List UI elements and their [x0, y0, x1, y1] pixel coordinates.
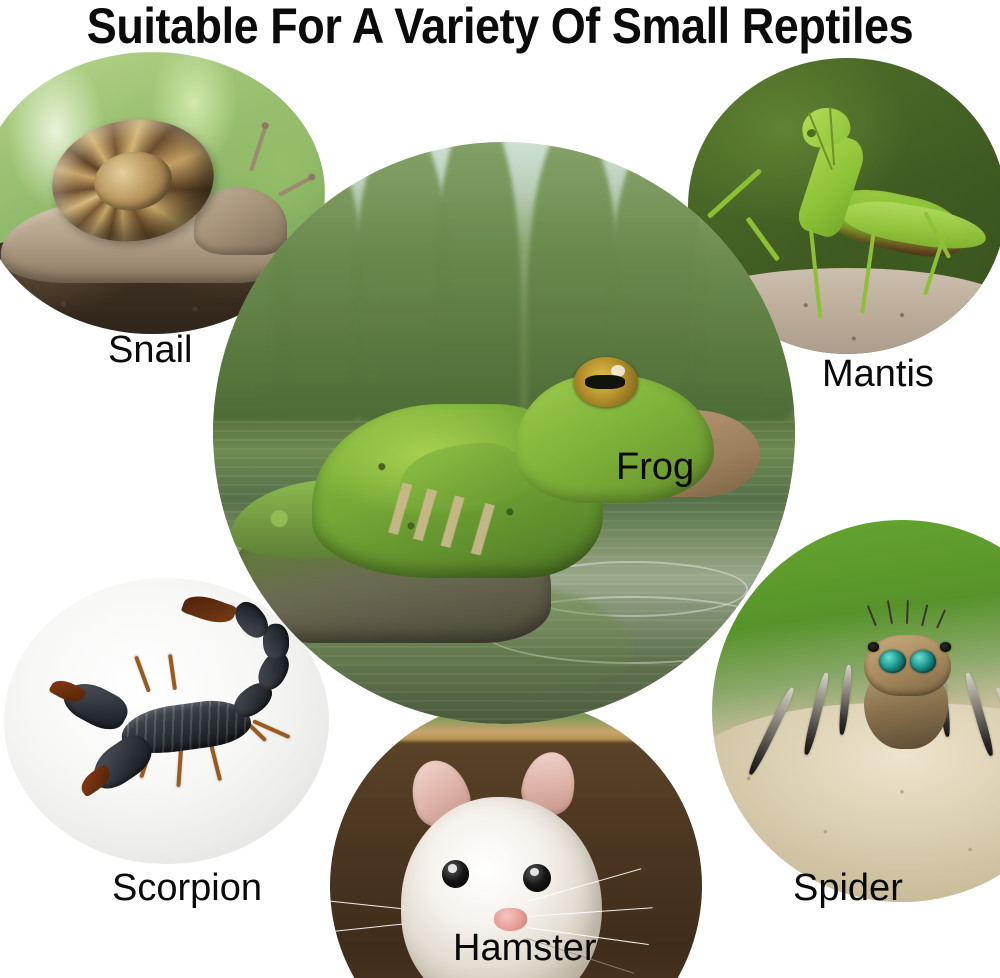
- label-frog: Frog: [616, 447, 694, 487]
- infographic-page: Suitable For A Variety Of Small Reptiles: [0, 0, 1000, 978]
- spider-eye-main-right: [910, 650, 937, 673]
- animal-circle-frog: [213, 142, 795, 724]
- frog-tree-2: [271, 142, 364, 421]
- frog-tree-4: [434, 142, 521, 421]
- label-scorpion: Scorpion: [112, 868, 262, 908]
- spider-eye-main-left: [879, 650, 906, 673]
- label-snail: Snail: [108, 330, 193, 370]
- frog-photo: [213, 142, 795, 724]
- hamster-eye-left: [442, 860, 470, 888]
- page-title: Suitable For A Variety Of Small Reptiles: [50, 0, 950, 54]
- hamster-eye-right: [523, 864, 551, 892]
- label-mantis: Mantis: [822, 354, 934, 394]
- label-hamster: Hamster: [453, 928, 597, 968]
- frog-eye: [574, 357, 638, 406]
- label-spider: Spider: [793, 868, 903, 908]
